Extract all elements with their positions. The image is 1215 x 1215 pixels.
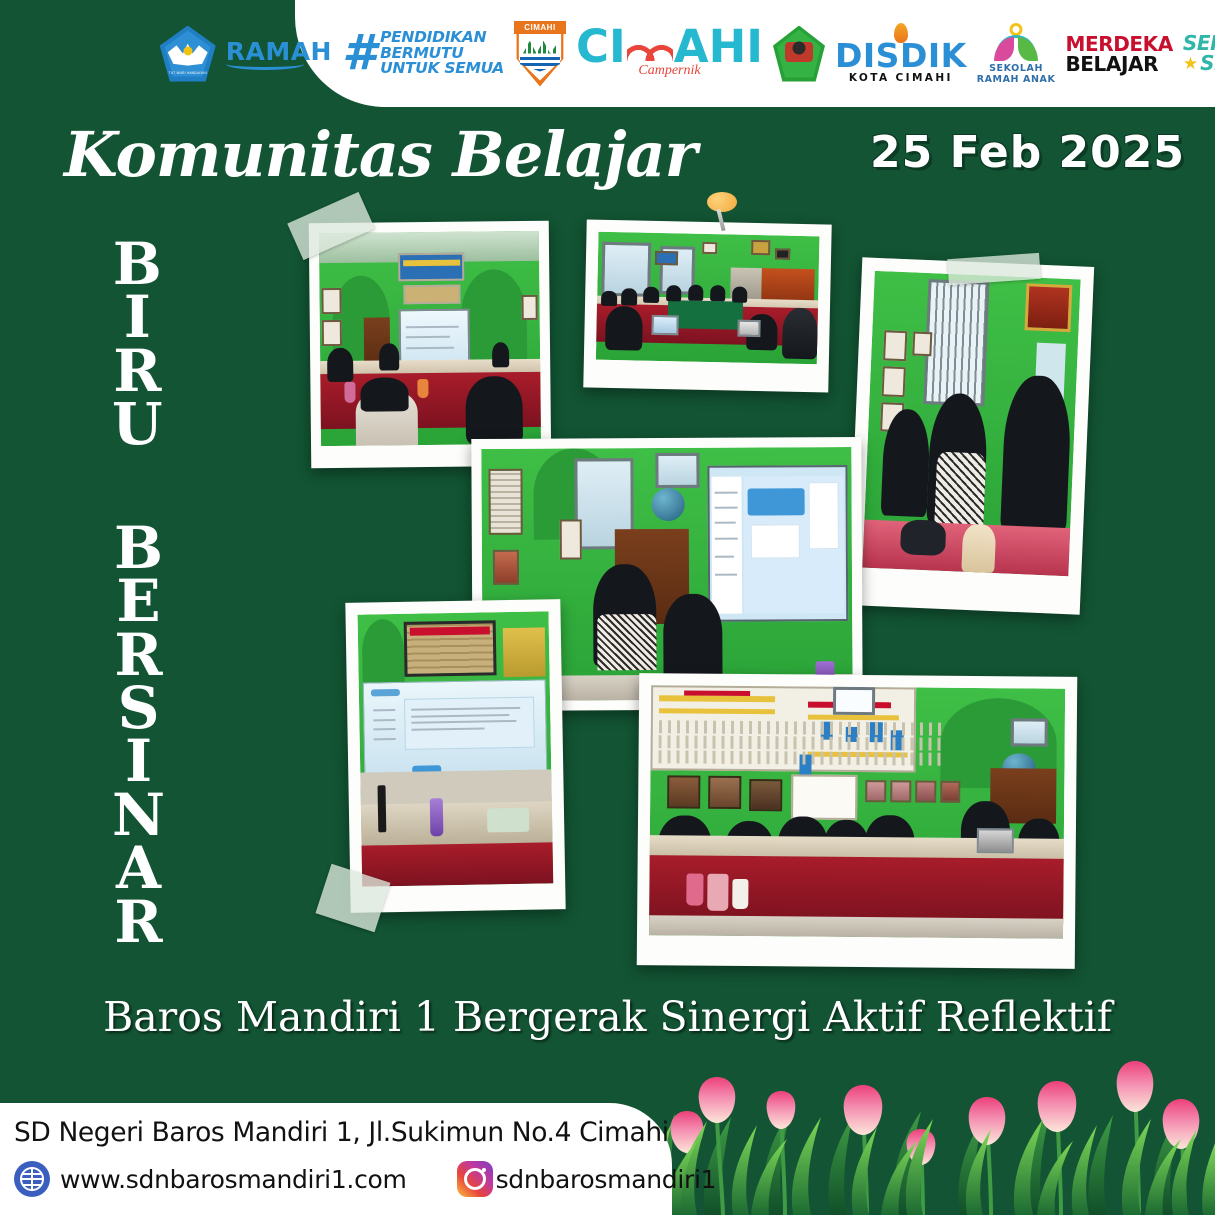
ramah-label: RAMAH bbox=[226, 37, 332, 66]
cimahi-letter-h: H bbox=[709, 29, 747, 65]
footer-panel: SD Negeri Baros Mandiri 1, Jl.Sukimun No… bbox=[0, 1103, 672, 1215]
belajar-label: BELAJAR bbox=[1065, 54, 1158, 74]
page-title: Komunitas Belajar bbox=[64, 118, 696, 191]
photo-image bbox=[862, 271, 1080, 576]
disdik-label: DISDIK bbox=[835, 40, 967, 71]
pushpin-icon bbox=[705, 192, 739, 232]
tut-wuri-handayani-logo: TUT WURI HANDAYANI bbox=[160, 26, 216, 82]
vertical-word-bersinar: BE RS IN AR bbox=[112, 522, 165, 949]
school-address: SD Negeri Baros Mandiri 1, Jl.Sukimun No… bbox=[14, 1117, 669, 1148]
sekolah-ramah-anak-logo: SEKOLAH RAMAH ANAK bbox=[977, 23, 1056, 85]
cimahi-letter-i: I bbox=[609, 29, 626, 65]
cimahi-letter-c: C bbox=[576, 29, 609, 65]
cimahi-crest-logo: CIMAHI bbox=[514, 21, 566, 87]
photo-image bbox=[358, 611, 554, 886]
cimahi-crest-label: CIMAHI bbox=[514, 21, 566, 34]
photo-projector-board bbox=[345, 599, 565, 913]
photo-image bbox=[319, 231, 541, 446]
website-link[interactable]: www.sdnbarosmandiri1.com bbox=[60, 1165, 407, 1194]
hashtag-icon: # bbox=[342, 33, 376, 73]
header-logo-bar: TUT WURI HANDAYANI RAMAH # PENDIDIKAN BE… bbox=[295, 0, 1215, 107]
simak-projection bbox=[707, 465, 848, 622]
sra-line1: SEKOLAH bbox=[989, 63, 1043, 74]
pbus-line3: UNTUK SEMUA bbox=[380, 61, 504, 77]
sehat-label: SEHAT bbox=[1200, 54, 1215, 74]
cimahi-letter-m-icon bbox=[627, 37, 673, 61]
disdik-kota-cimahi-logo: DISDIK KOTA CIMAHI bbox=[835, 23, 967, 83]
tut-wuri-label: TUT WURI HANDAYANI bbox=[169, 71, 207, 75]
photo-classroom-presentation bbox=[309, 221, 552, 468]
photo-group-discussion bbox=[637, 673, 1078, 969]
instagram-handle[interactable]: sdnbarosmandiri1 bbox=[496, 1165, 717, 1194]
cimahi-campernik-logo: C I A H I Campernik bbox=[576, 29, 763, 79]
merdeka-label: MERDEKA bbox=[1065, 34, 1172, 54]
sekolah-sehat-logo: SEKOLAH ★ SEHAT bbox=[1183, 34, 1215, 73]
vertical-word-biru: BI RU bbox=[112, 238, 163, 451]
sra-mark-icon bbox=[992, 23, 1040, 63]
photo-teachers-seated bbox=[848, 257, 1094, 614]
pendidikan-bermutu-untuk-semua-logo: # PENDIDIKAN BERMUTU UNTUK SEMUA bbox=[342, 30, 504, 77]
event-date: 25 Feb 2025 bbox=[870, 127, 1185, 178]
campernik-label: Campernik bbox=[638, 63, 700, 79]
sra-line2: RAMAH ANAK bbox=[977, 74, 1056, 85]
instagram-icon[interactable] bbox=[457, 1161, 493, 1197]
photo-image bbox=[649, 685, 1065, 939]
ramah-swoosh-icon bbox=[226, 63, 304, 70]
globe-icon bbox=[14, 1161, 50, 1197]
sekolah-ramah-anak-badge-logo bbox=[773, 26, 825, 82]
ramah-logo: RAMAH bbox=[226, 37, 332, 70]
cimahi-letter-a: A bbox=[674, 29, 709, 65]
star-icon: ★ bbox=[1183, 55, 1198, 72]
grass-tulips-decoration bbox=[645, 1025, 1215, 1215]
photo-image bbox=[596, 232, 820, 365]
merdeka-belajar-logo: MERDEKA BELAJAR bbox=[1065, 34, 1172, 74]
cimahi-letter-i2: I bbox=[746, 29, 763, 65]
photo-meeting-room-wide bbox=[583, 219, 831, 392]
kota-cimahi-label: KOTA CIMAHI bbox=[849, 72, 953, 84]
